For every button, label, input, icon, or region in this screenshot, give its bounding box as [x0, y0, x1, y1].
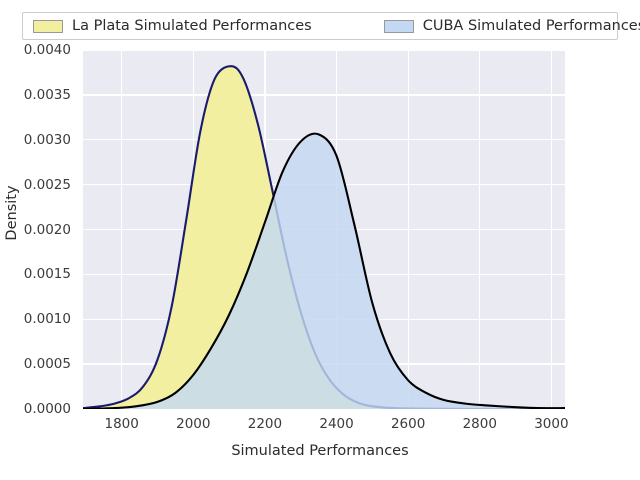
y-tick-label: 0.0025	[24, 177, 71, 193]
x-tick-label: 2200	[248, 416, 282, 432]
x-tick-label: 2000	[176, 416, 210, 432]
y-tick-label: 0.0020	[24, 222, 71, 238]
x-tick-label: 1800	[104, 416, 138, 432]
legend-swatch-la-plata	[33, 20, 63, 33]
density-curves	[83, 50, 565, 409]
y-axis-label: Density	[4, 113, 20, 313]
legend-entry-la-plata: La Plata Simulated Performances	[33, 13, 312, 39]
y-tick-label: 0.0010	[24, 311, 71, 327]
y-tick-label: 0.0015	[24, 266, 71, 282]
x-axis-label: Simulated Performances	[0, 443, 640, 459]
y-tick-label: 0.0030	[24, 132, 71, 148]
plot-area	[83, 50, 565, 409]
x-tick-label: 3000	[534, 416, 568, 432]
legend-label-cuba: CUBA Simulated Performances	[423, 19, 640, 34]
density-plot-figure: La Plata Simulated Performances CUBA Sim…	[0, 0, 640, 480]
y-tick-label: 0.0005	[24, 356, 71, 372]
x-tick-label: 2600	[391, 416, 425, 432]
y-tick-label: 0.0000	[24, 401, 71, 417]
legend-label-la-plata: La Plata Simulated Performances	[72, 19, 312, 34]
x-tick-label: 2800	[463, 416, 497, 432]
y-tick-label: 0.0035	[24, 87, 71, 103]
legend-entry-cuba: CUBA Simulated Performances	[384, 13, 640, 39]
chart-legend: La Plata Simulated Performances CUBA Sim…	[22, 12, 618, 40]
x-tick-label: 2400	[319, 416, 353, 432]
legend-swatch-cuba	[384, 20, 414, 33]
y-tick-label: 0.0040	[24, 42, 71, 58]
